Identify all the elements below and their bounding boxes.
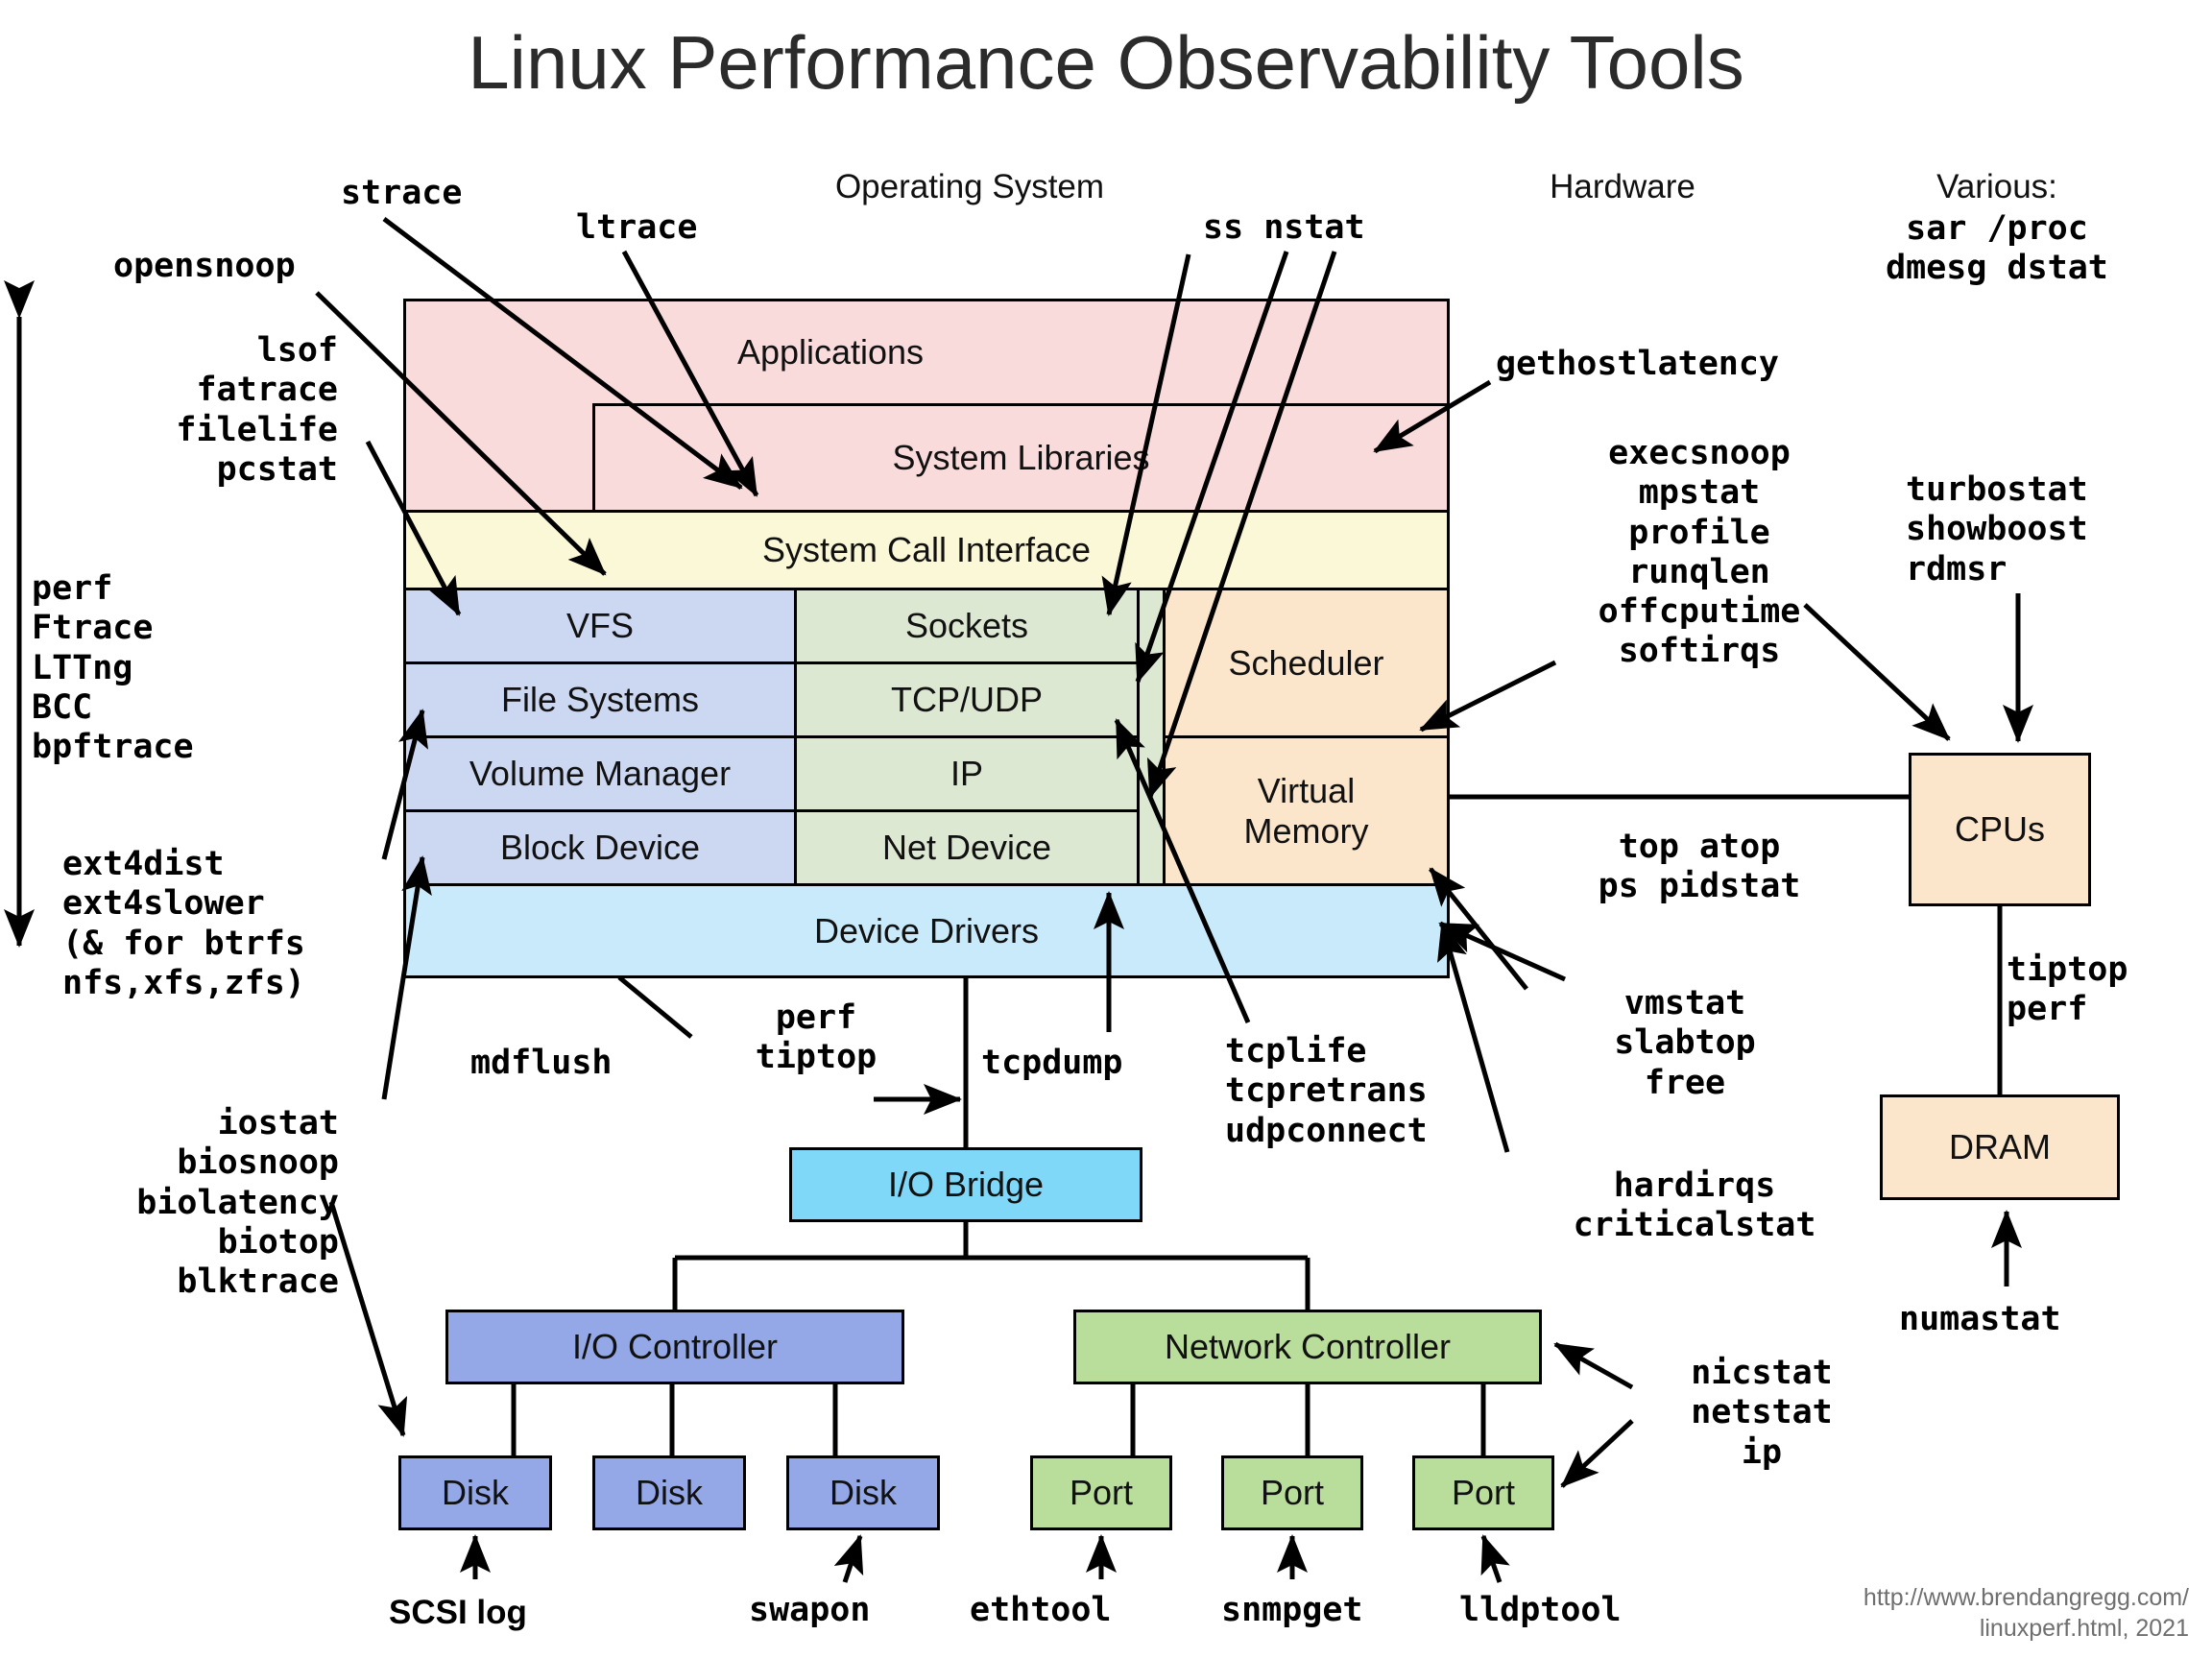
hw-box-disk-3[interactable]: Disk	[786, 1455, 940, 1530]
stack-label-file-systems: File Systems	[501, 680, 699, 720]
hw-box-port-2[interactable]: Port	[1221, 1455, 1363, 1530]
stack-label-virtual-memory-2: Memory	[1243, 811, 1368, 852]
stack-box-applications[interactable]: Applications	[403, 299, 1258, 406]
tool-label-scsi-log: SCSI log	[389, 1594, 527, 1631]
tool-label-snmpget: snmpget	[1221, 1592, 1363, 1629]
hw-box-disk-2[interactable]: Disk	[592, 1455, 746, 1530]
stack-box-tcp-udp[interactable]: TCP/UDP	[794, 661, 1140, 738]
hw-label-io-controller: I/O Controller	[572, 1327, 778, 1367]
tool-label-tiptop-perf: tiptop perf	[2007, 950, 2128, 1030]
tool-label-cpu-group: turbostat showboost rdmsr	[1906, 470, 2088, 589]
tool-label-vm-group: vmstat slabtop free	[1531, 984, 1839, 1103]
arrow-block-group-disk	[331, 1202, 403, 1435]
tool-label-gethostlatency: gethostlatency	[1496, 346, 1779, 383]
tool-label-nic-group: nicstat netstat ip	[1613, 1354, 1911, 1473]
tool-label-tracer-group: perf Ftrace LTTng BCC bpftrace	[32, 569, 194, 767]
hw-label-port-1: Port	[1070, 1473, 1133, 1513]
stack-box-applications-right[interactable]	[1255, 299, 1450, 406]
tool-label-lldptool: lldptool	[1459, 1592, 1622, 1629]
stack-box-virtual-memory[interactable]: Virtual Memory	[1163, 735, 1450, 886]
stack-label-device-drivers: Device Drivers	[814, 911, 1039, 951]
stack-box-volume-manager[interactable]: Volume Manager	[403, 735, 797, 812]
stack-label-sockets: Sockets	[905, 606, 1028, 646]
section-header-operating-system: Operating System	[778, 168, 1162, 205]
tool-label-tcpdump: tcpdump	[981, 1045, 1123, 1082]
stack-box-vfs[interactable]: VFS	[403, 588, 797, 664]
tool-label-swapon: swapon	[749, 1592, 870, 1629]
stack-box-block-device[interactable]: Block Device	[403, 809, 797, 886]
stack-box-device-drivers[interactable]: Device Drivers	[403, 883, 1450, 978]
hw-box-dram[interactable]: DRAM	[1880, 1094, 2120, 1200]
stack-box-ip[interactable]: IP	[794, 735, 1140, 812]
hw-box-network-controller[interactable]: Network Controller	[1073, 1310, 1542, 1384]
tool-label-opensnoop: opensnoop	[113, 248, 296, 285]
hw-label-network-controller: Network Controller	[1165, 1327, 1451, 1367]
hw-box-io-bridge[interactable]: I/O Bridge	[789, 1147, 1142, 1222]
tool-label-various-group: sar /proc dmesg dstat	[1791, 209, 2203, 289]
hw-box-cpus[interactable]: CPUs	[1909, 753, 2091, 906]
tool-label-perf-tiptop: perf tiptop	[710, 998, 922, 1078]
stack-label-vfs: VFS	[566, 606, 634, 646]
hw-label-disk-1: Disk	[442, 1473, 509, 1513]
section-header-various: Various:	[1853, 168, 2141, 205]
hw-label-dram: DRAM	[1949, 1127, 2051, 1167]
hw-box-port-3[interactable]: Port	[1412, 1455, 1554, 1530]
credit-line-2: linuxperf.html, 2021	[1632, 1613, 2189, 1644]
stack-label-system-libraries: System Libraries	[892, 438, 1149, 478]
tool-label-top-group: top atop ps pidstat	[1507, 828, 1891, 907]
hw-label-disk-3: Disk	[829, 1473, 897, 1513]
stack-label-virtual-memory-1: Virtual	[1258, 771, 1355, 811]
stack-label-applications: Applications	[737, 332, 924, 373]
stack-box-apps-gap	[403, 403, 595, 513]
arrow-vm-group	[1440, 924, 1565, 979]
hw-box-disk-1[interactable]: Disk	[398, 1455, 552, 1530]
tool-label-strace: strace	[341, 175, 462, 212]
diagram-canvas: Linux Performance Observability Tools Op…	[0, 0, 2212, 1659]
stack-box-net-device[interactable]: Net Device	[794, 809, 1140, 886]
hw-box-io-controller[interactable]: I/O Controller	[445, 1310, 904, 1384]
stack-label-tcp-udp: TCP/UDP	[891, 680, 1043, 720]
stack-box-file-systems[interactable]: File Systems	[403, 661, 797, 738]
stack-label-volume-manager: Volume Manager	[469, 754, 731, 794]
stack-box-scheduler[interactable]: Scheduler	[1163, 588, 1450, 738]
tool-label-ltrace: ltrace	[576, 209, 697, 247]
hw-label-cpus: CPUs	[1955, 809, 2045, 850]
section-header-hardware: Hardware	[1469, 168, 1776, 205]
stack-box-green-sliver-top	[1137, 588, 1166, 886]
stack-label-ip: IP	[950, 754, 983, 794]
stack-box-system-call-interface[interactable]: System Call Interface	[403, 510, 1450, 590]
stack-label-scheduler: Scheduler	[1228, 643, 1383, 684]
tool-label-ethtool: ethtool	[970, 1592, 1112, 1629]
line-mdflush	[619, 977, 691, 1037]
stack-label-system-call-interface: System Call Interface	[762, 530, 1091, 570]
hw-label-disk-2: Disk	[636, 1473, 703, 1513]
arrow-lldptool	[1483, 1536, 1500, 1582]
hw-box-port-1[interactable]: Port	[1030, 1455, 1172, 1530]
tool-label-ss-nstat: ss nstat	[1203, 209, 1365, 247]
stack-label-net-device: Net Device	[882, 828, 1051, 868]
stack-box-system-libraries[interactable]: System Libraries	[592, 403, 1450, 513]
arrow-swapon	[845, 1536, 860, 1582]
tool-label-sched-group: execsnoop mpstat profile runqlen offcput…	[1488, 434, 1911, 672]
hw-label-io-bridge: I/O Bridge	[888, 1165, 1044, 1205]
tool-label-irq-group: hardirqs criticalstat	[1488, 1166, 1901, 1246]
os-stack: Applications System Libraries System Cal…	[403, 299, 1450, 978]
tool-label-tcp-group: tcplife tcpretrans udpconnect	[1225, 1032, 1428, 1151]
tool-label-file-group: lsof fatrace filelife pcstat	[0, 331, 338, 490]
hw-label-port-3: Port	[1452, 1473, 1515, 1513]
tool-label-numastat: numastat	[1899, 1301, 2061, 1338]
stack-label-block-device: Block Device	[500, 828, 700, 868]
credit-line-1: http://www.brendangregg.com/	[1632, 1582, 2189, 1613]
arrow-irq-group	[1442, 924, 1507, 1152]
tool-label-block-group: iostat biosnoop biolatency biotop blktra…	[0, 1104, 339, 1302]
page-title: Linux Performance Observability Tools	[0, 21, 2212, 105]
hw-label-port-2: Port	[1261, 1473, 1324, 1513]
tool-label-mdflush: mdflush	[470, 1045, 613, 1082]
tool-label-ext4-group: ext4dist ext4slower (& for btrfs nfs,xfs…	[62, 845, 305, 1003]
stack-box-sockets[interactable]: Sockets	[794, 588, 1140, 664]
